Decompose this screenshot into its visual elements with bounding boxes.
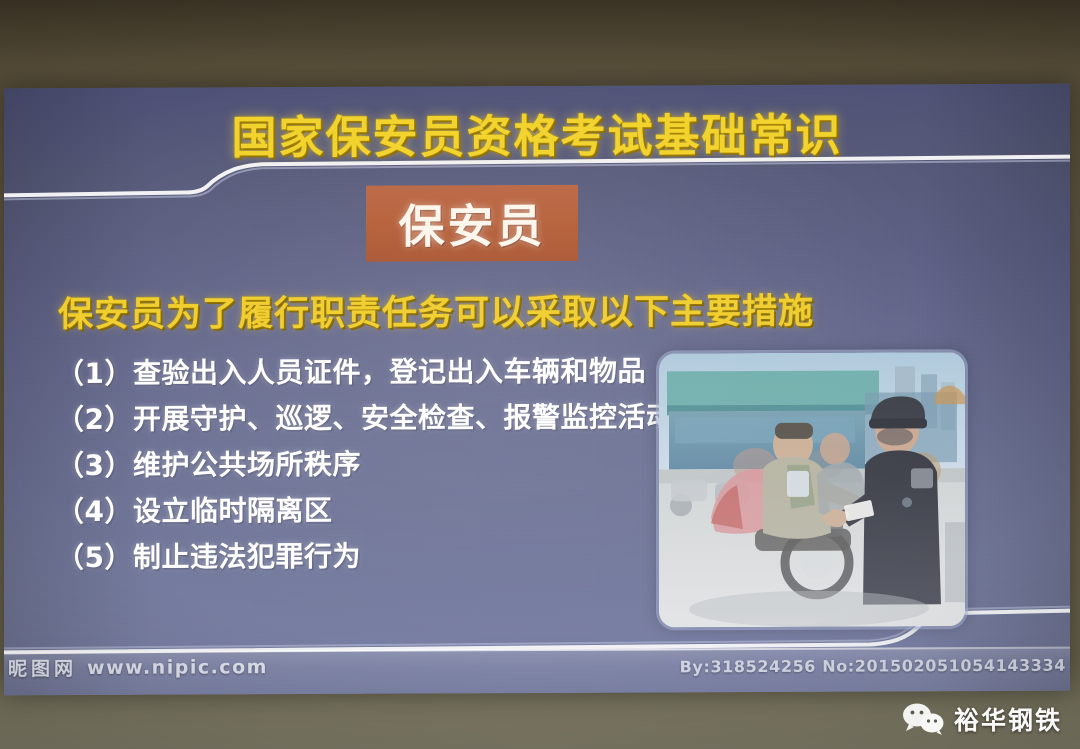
nipic-site-name-cn: 昵图网: [8, 654, 77, 681]
slide-photo: [659, 352, 965, 627]
projected-slide: 国家保安员资格考试基础常识 保安员 保安员为了履行职责任务可以采取以下主要措施 …: [4, 84, 1070, 696]
slide-subtitle: 保安员为了履行职责任务可以采取以下主要措施: [58, 282, 958, 337]
list-item: （3）维护公共场所秩序: [56, 449, 676, 480]
nipic-credit: By:318524256 No:201502051054143334: [680, 656, 1066, 677]
list-item: （4）设立临时隔离区: [56, 495, 676, 526]
list-item: （5）制止违法犯罪行为: [56, 541, 676, 572]
wechat-account-badge: 裕华钢铁: [901, 701, 1062, 737]
list-item: （1）查验出入人员证件，登记出入车辆和物品: [56, 357, 676, 388]
nipic-site-url: www.nipic.com: [87, 656, 268, 679]
badge-label: 保安员: [399, 190, 546, 257]
projection-room-photo: 国家保安员资格考试基础常识 保安员 保安员为了履行职责任务可以采取以下主要措施 …: [0, 0, 1080, 749]
wechat-account-name: 裕华钢铁: [954, 701, 1062, 737]
measures-list: （1）查验出入人员证件，登记出入车辆和物品 （2）开展守护、巡逻、安全检查、报警…: [56, 357, 676, 590]
badge-box: 保安员: [366, 185, 578, 262]
slide-title: 国家保安员资格考试基础常识: [4, 98, 1070, 168]
nipic-watermark: 昵图网 www.nipic.com: [8, 653, 268, 681]
list-item: （2）开展守护、巡逻、安全检查、报警监控活动: [56, 403, 676, 434]
wechat-icon: [901, 702, 945, 736]
photo-illustration: [659, 352, 965, 627]
